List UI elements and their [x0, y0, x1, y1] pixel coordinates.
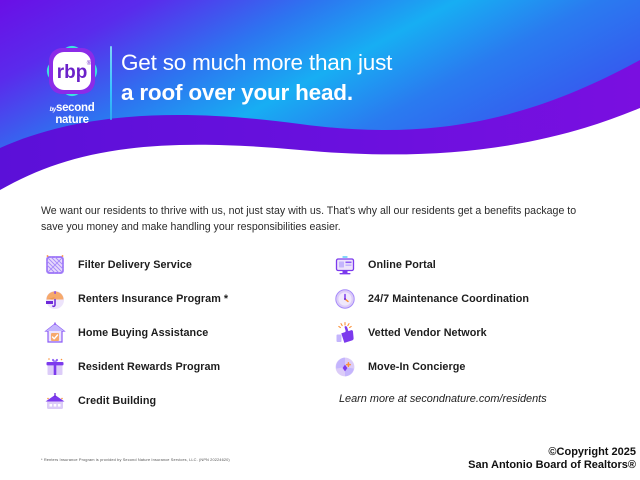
- benefit-credit-building: Credit Building: [41, 384, 331, 418]
- logo-divider: [110, 46, 112, 120]
- house-icon: [41, 319, 69, 347]
- gift-icon: [41, 353, 69, 381]
- monitor-icon: [331, 251, 359, 279]
- headline-line-1: Get so much more than just: [121, 48, 541, 78]
- logo-rbp-text: rbp: [57, 62, 88, 83]
- concierge-icon: [331, 353, 359, 381]
- benefit-label: Filter Delivery Service: [78, 259, 192, 271]
- umbrella-icon: [41, 285, 69, 313]
- benefit-vetted-vendor-network: Vetted Vendor Network: [331, 316, 601, 350]
- insurance-footnote: * Renters Insurance Program is provided …: [41, 457, 230, 462]
- headline-line-2: a roof over your head.: [121, 78, 541, 108]
- rbp-logo: rbp ® bysecond nature: [38, 42, 106, 118]
- benefit-home-buying-assistance: Home Buying Assistance: [41, 316, 331, 350]
- learn-more-link[interactable]: Learn more at secondnature.com/residents: [339, 393, 601, 405]
- logo-subbrand: bysecond nature: [50, 103, 95, 126]
- benefits-column-right: Online Portal 24/7 Maintenance Coordinat…: [331, 248, 601, 418]
- filter-icon: [41, 251, 69, 279]
- benefit-label: Move-In Concierge: [368, 361, 465, 373]
- benefit-label: Online Portal: [368, 259, 436, 271]
- logo-trademark: ®: [87, 60, 92, 67]
- benefit-label: Resident Rewards Program: [78, 361, 220, 373]
- benefit-label: 24/7 Maintenance Coordination: [368, 293, 529, 305]
- benefit-label: Vetted Vendor Network: [368, 327, 487, 339]
- headline: Get so much more than just a roof over y…: [121, 48, 541, 107]
- rbp-logo-mark: rbp ®: [42, 42, 102, 100]
- intro-paragraph: We want our residents to thrive with us,…: [41, 203, 589, 236]
- copyright-line-1: ©Copyright 2025: [468, 446, 636, 459]
- mailbox-icon: [41, 387, 69, 415]
- copyright-line-2: San Antonio Board of Realtors®: [468, 459, 636, 472]
- benefit-maintenance-coordination: 24/7 Maintenance Coordination: [331, 282, 601, 316]
- benefits-column-left: Filter Delivery Service Renters Insuranc…: [41, 248, 331, 418]
- promo-flyer: rbp ® bysecond nature Get so much more t…: [0, 0, 640, 480]
- benefit-online-portal: Online Portal: [331, 248, 601, 282]
- benefit-resident-rewards-program: Resident Rewards Program: [41, 350, 331, 384]
- benefits-list: Filter Delivery Service Renters Insuranc…: [41, 248, 601, 418]
- thumbs-up-icon: [331, 319, 359, 347]
- benefit-renters-insurance-program: Renters Insurance Program *: [41, 282, 331, 316]
- logo-brand-line2: nature: [50, 115, 95, 127]
- benefit-label: Credit Building: [78, 395, 156, 407]
- clock-icon: [331, 285, 359, 313]
- benefit-label: Home Buying Assistance: [78, 327, 208, 339]
- copyright-watermark: ©Copyright 2025 San Antonio Board of Rea…: [468, 446, 636, 472]
- logo-brand-line1: second: [56, 102, 94, 114]
- benefit-filter-delivery-service: Filter Delivery Service: [41, 248, 331, 282]
- benefit-move-in-concierge: Move-In Concierge: [331, 350, 601, 384]
- benefit-label: Renters Insurance Program *: [78, 293, 228, 305]
